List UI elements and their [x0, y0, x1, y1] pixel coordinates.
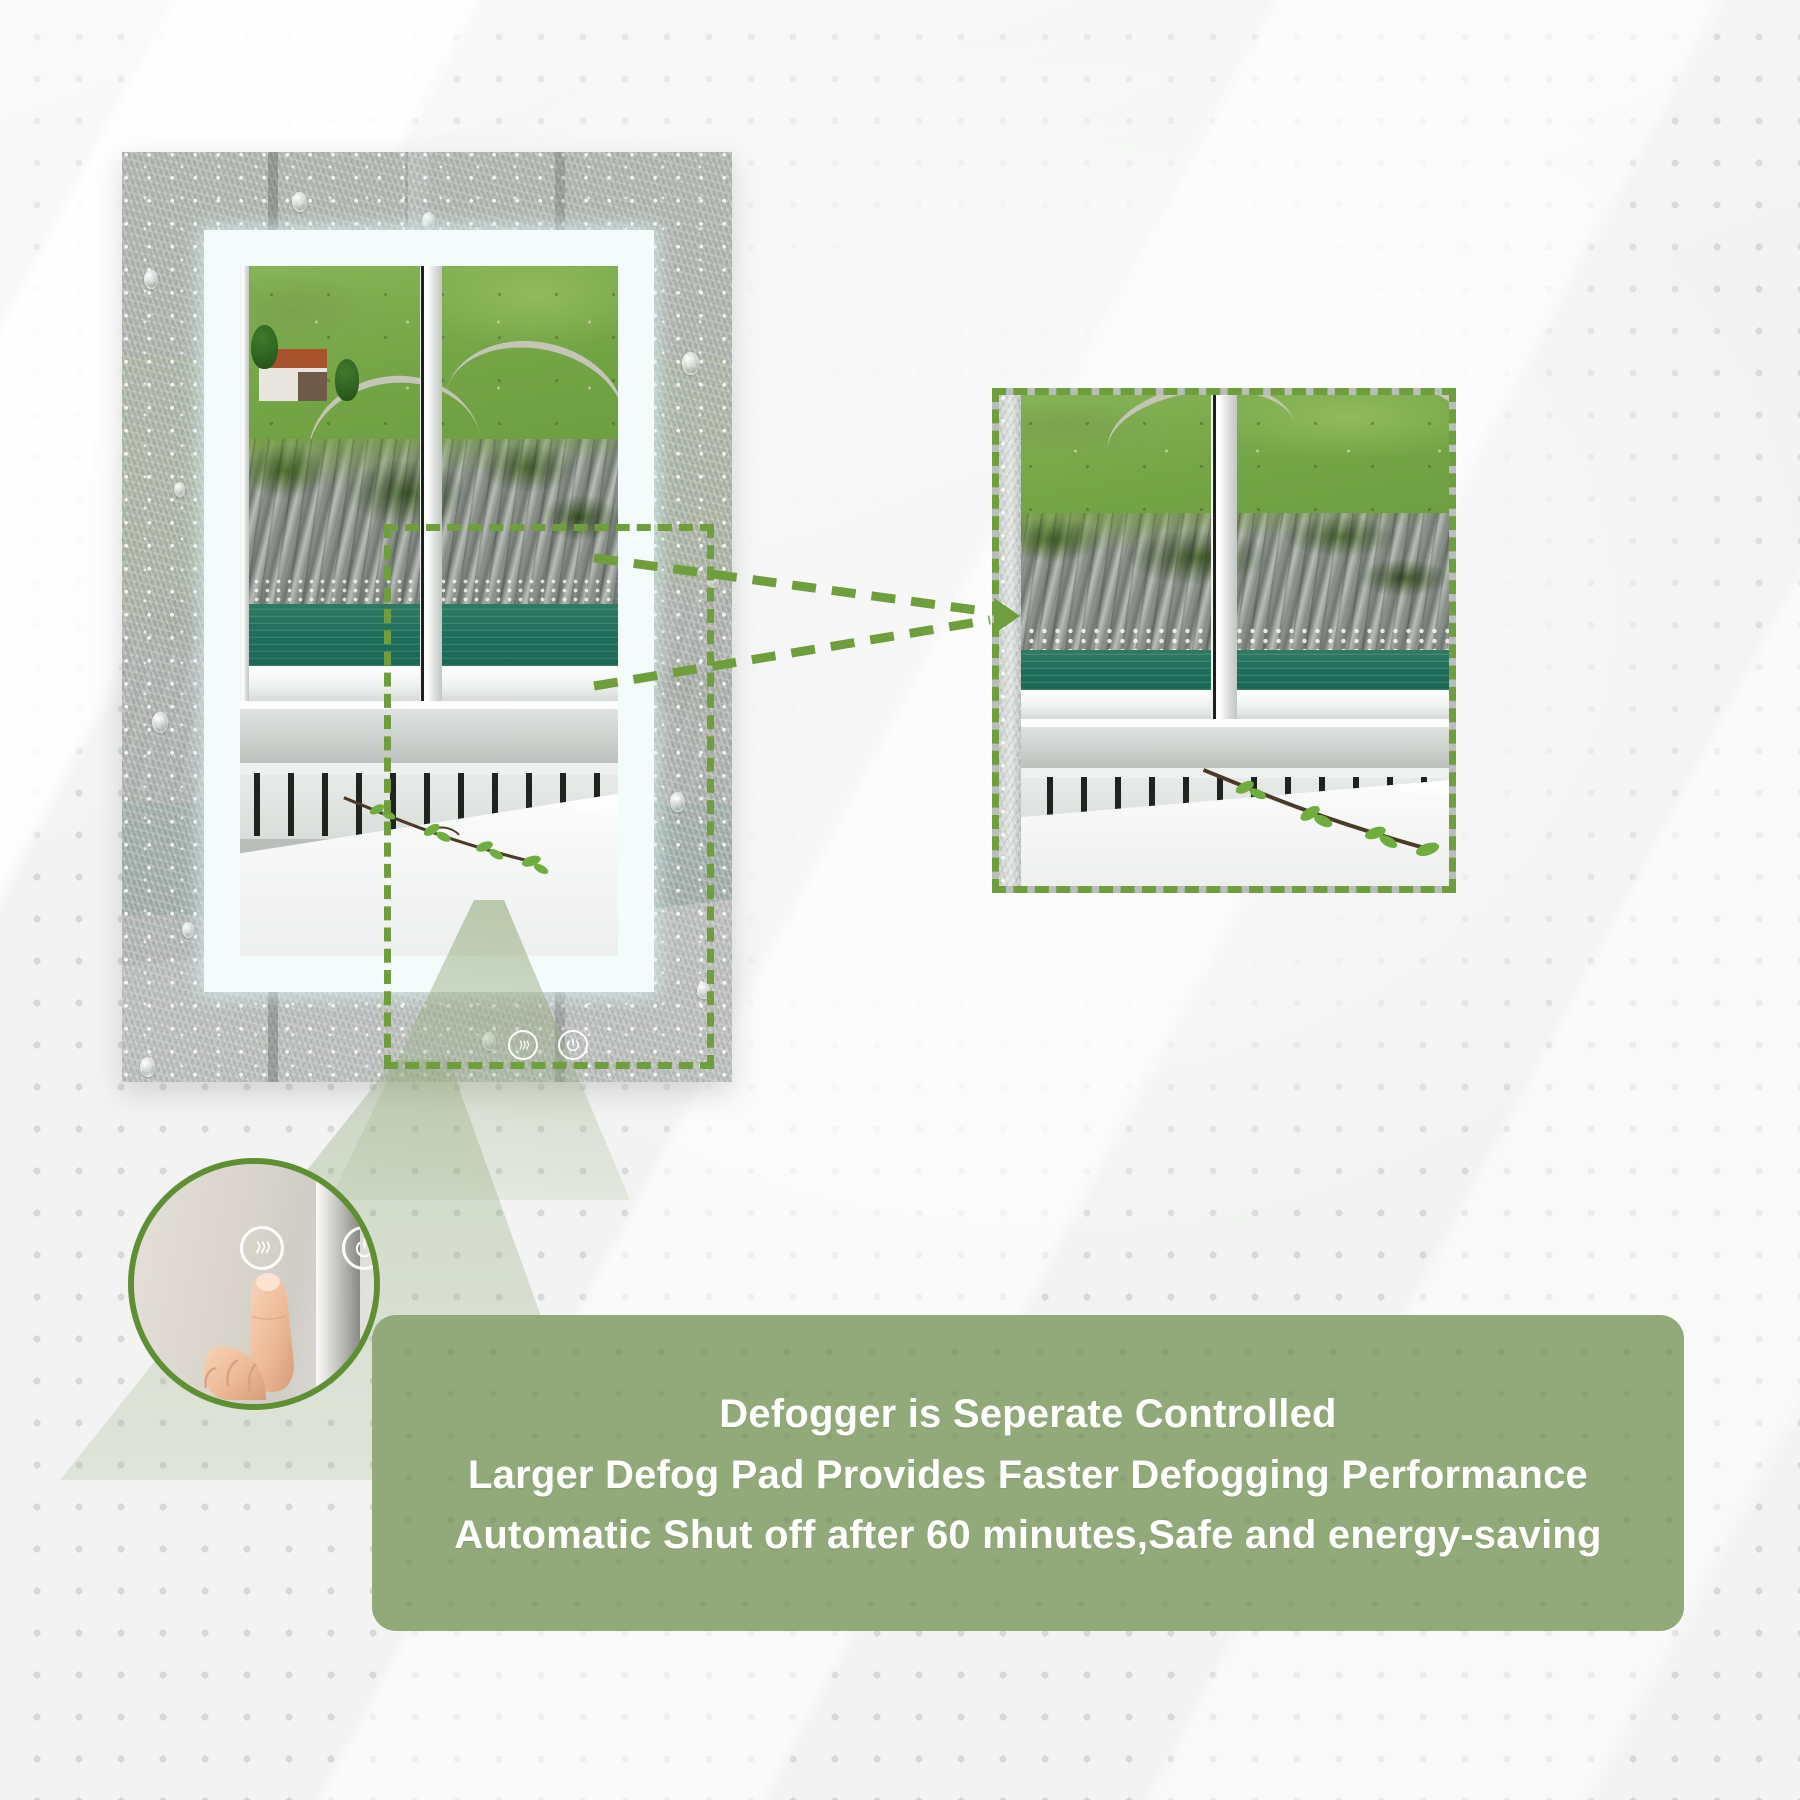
- banner-text-group: Defogger is Seperate Controlled Larger D…: [454, 1392, 1601, 1558]
- window-jamb-left: [240, 266, 249, 701]
- power-icon: [353, 1237, 376, 1260]
- zoom-callout-arrow: [590, 520, 1020, 720]
- zoom-window-sill: [999, 719, 1449, 768]
- infographic-page: Defogger is Seperate Controlled Larger D…: [0, 0, 1800, 1800]
- inset-defogger-button[interactable]: [240, 1226, 284, 1270]
- zoom-window-mullion: [1211, 395, 1237, 719]
- feature-banner: Defogger is Seperate Controlled Larger D…: [372, 1315, 1684, 1631]
- power-button[interactable]: [558, 1030, 588, 1060]
- power-icon: [565, 1037, 581, 1053]
- defogger-button[interactable]: [508, 1030, 538, 1060]
- hand-icon: [182, 1264, 372, 1410]
- defogger-steam-icon: [515, 1037, 532, 1054]
- finger-pressing-defogger-inset: [128, 1158, 380, 1410]
- zoomed-defogged-area: [992, 388, 1456, 893]
- feature-line-2: Larger Defog Pad Provides Faster Defoggi…: [468, 1453, 1588, 1498]
- feature-line-3: Automatic Shut off after 60 minutes,Safe…: [454, 1513, 1601, 1558]
- feature-line-1: Defogger is Seperate Controlled: [719, 1392, 1336, 1437]
- defogger-steam-icon: [250, 1236, 274, 1260]
